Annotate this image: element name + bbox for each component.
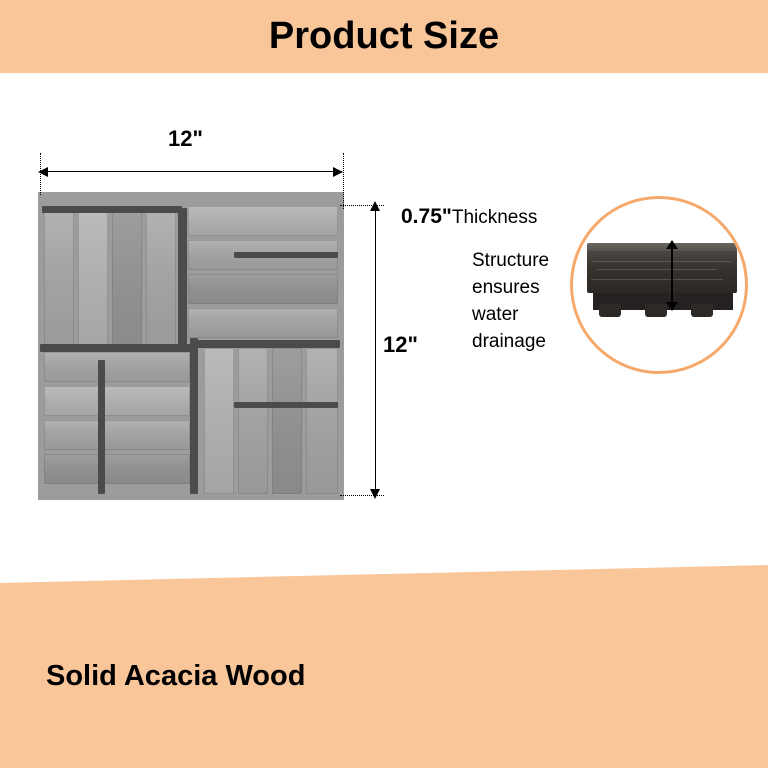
clip	[42, 206, 182, 213]
plank	[272, 348, 302, 494]
plank	[188, 308, 338, 338]
clip	[234, 252, 338, 258]
thickness-word: Thickness	[452, 207, 538, 229]
plank	[44, 454, 190, 484]
width-extension-right	[343, 153, 344, 209]
clip	[98, 360, 105, 494]
plank	[44, 420, 190, 450]
plank	[146, 210, 176, 360]
page-title: Product Size	[0, 0, 768, 73]
footer-title: Solid Acacia Wood	[46, 660, 305, 693]
wood-grain-line	[597, 269, 717, 270]
tile-foot	[599, 304, 621, 317]
plank	[204, 348, 234, 494]
plank	[78, 210, 108, 360]
clip	[190, 338, 198, 494]
thickness-arrow-down	[666, 302, 678, 311]
width-arrow-right	[333, 167, 343, 177]
height-dimension-line	[375, 209, 376, 491]
thickness-measure-line	[671, 247, 673, 303]
clip	[178, 208, 187, 348]
thickness-arrow-up	[666, 240, 678, 249]
plank	[306, 348, 338, 494]
plank	[44, 386, 190, 416]
thickness-callout: 0.75" Thickness	[401, 205, 537, 229]
plank	[238, 348, 268, 494]
width-dimension-line	[42, 171, 342, 172]
tile-foot	[645, 304, 667, 317]
plank	[44, 210, 74, 360]
clip	[234, 402, 338, 408]
tile-body	[587, 251, 737, 293]
height-arrow-up	[370, 201, 380, 211]
width-dimension-label: 12"	[168, 126, 203, 152]
plank	[188, 274, 338, 304]
thickness-value: 0.75"	[401, 205, 452, 229]
width-arrow-left	[38, 167, 48, 177]
clip	[40, 344, 190, 352]
structure-description: Structure ensures water drainage	[472, 247, 577, 355]
height-dimension-label: 12"	[383, 332, 418, 358]
height-arrow-down	[370, 489, 380, 499]
wood-grain-line	[593, 261, 731, 262]
clip	[190, 340, 340, 348]
plank	[44, 352, 190, 382]
edge-profile-image	[573, 199, 745, 371]
edge-profile-inset	[570, 196, 748, 374]
tile-foot	[691, 304, 713, 317]
product-tile-image	[38, 192, 344, 500]
plank	[188, 206, 338, 236]
plank	[112, 210, 142, 360]
wood-grain-line	[591, 279, 723, 280]
